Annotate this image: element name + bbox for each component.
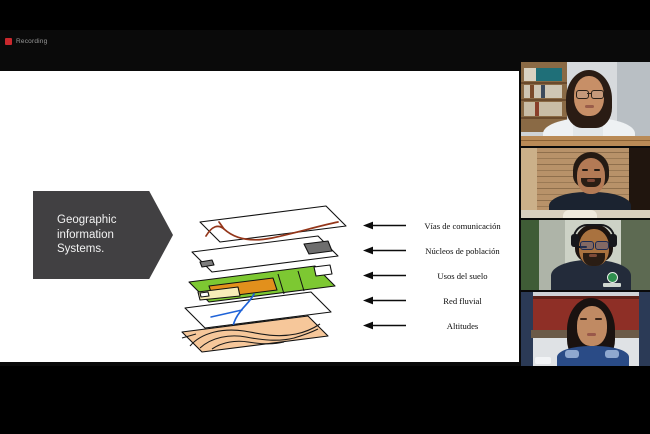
meeting-screen: Recording Geographic information Systems… bbox=[0, 0, 650, 434]
diagram-label-row: Núcleos de población bbox=[363, 238, 515, 263]
left-arrow-icon bbox=[363, 221, 406, 230]
diagram-label-list: Vías de comunicación Núcleos de població… bbox=[363, 213, 515, 338]
diagram-label-text: Usos del suelo bbox=[410, 271, 515, 281]
diagram-label-text: Vías de comunicación bbox=[410, 221, 515, 231]
diagram-label-row: Vías de comunicación bbox=[363, 213, 515, 238]
diagram-label-row: Altitudes bbox=[363, 313, 515, 338]
participant-tile-2[interactable] bbox=[521, 148, 650, 218]
recording-indicator: Recording bbox=[0, 30, 120, 52]
diagram-label-row: Red fluvial bbox=[363, 288, 515, 313]
left-arrow-icon bbox=[363, 296, 406, 305]
participant-tile-3[interactable] bbox=[521, 220, 650, 290]
recording-label: Recording bbox=[16, 38, 47, 45]
recording-dot-icon bbox=[5, 38, 12, 45]
bottom-black-bar bbox=[0, 366, 650, 434]
left-arrow-icon bbox=[363, 271, 406, 280]
gis-layer-stack-diagram bbox=[178, 204, 368, 354]
uniform-badge-icon bbox=[607, 272, 618, 283]
left-arrow-icon bbox=[363, 321, 406, 330]
diagram-label-text: Núcleos de población bbox=[410, 246, 515, 256]
top-black-bar bbox=[0, 0, 650, 30]
participant-video-strip bbox=[521, 60, 650, 366]
diagram-label-text: Red fluvial bbox=[410, 296, 515, 306]
participant-tile-4[interactable] bbox=[521, 292, 650, 366]
shared-slide: Geographic information Systems. bbox=[0, 71, 519, 362]
left-arrow-icon bbox=[363, 246, 406, 255]
participant-tile-1[interactable] bbox=[521, 62, 650, 146]
slide-title-text: Geographic information Systems. bbox=[33, 213, 124, 257]
slide-title-callout: Geographic information Systems. bbox=[33, 191, 173, 279]
diagram-label-row: Usos del suelo bbox=[363, 263, 515, 288]
diagram-label-text: Altitudes bbox=[410, 321, 515, 331]
